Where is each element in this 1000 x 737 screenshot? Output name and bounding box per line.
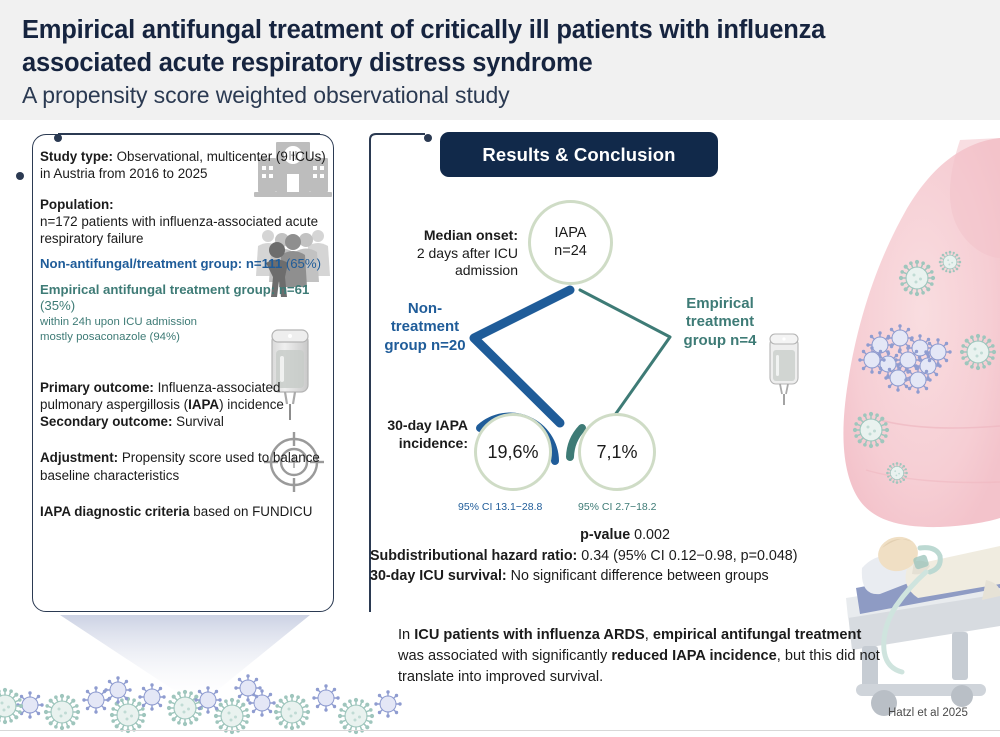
page-subtitle: A propensity score weighted observationa…: [22, 82, 922, 109]
survival-label: 30-day ICU survival:: [370, 568, 507, 584]
virus-band-bottom: [0, 674, 402, 734]
population-block: Population: n=172 patients with influenz…: [40, 196, 330, 345]
p-value-value: 0.002: [630, 527, 670, 543]
statistics-block: p-value 0.002 Subdistributional hazard r…: [370, 525, 880, 587]
p-value-label: p-value: [580, 527, 630, 543]
median-onset-title: Median onset:: [424, 227, 518, 243]
conclusion-part3: was associated with significantly: [398, 648, 611, 664]
hazard-ratio-row: Subdistributional hazard ratio: 0.34 (95…: [370, 546, 880, 567]
incidence-label: 30-day IAPA incidence:: [360, 417, 468, 452]
ci-empirical: 95% CI 2.7−18.2: [578, 501, 657, 513]
population-label: Population:: [40, 197, 114, 212]
group-emp-note2: mostly posaconazole (94%): [40, 330, 330, 345]
pct-value-empirical: 7,1%: [596, 442, 637, 463]
outcomes-block: Primary outcome: Influenza-associated pu…: [40, 379, 330, 431]
criteria-label: IAPA diagnostic criteria: [40, 504, 190, 519]
group-non-label: Non-antifungal/treatment group: n=111: [40, 256, 282, 271]
citation: Hatzl et al 2025: [888, 707, 968, 719]
secondary-outcome-label: Secondary outcome:: [40, 414, 172, 429]
conclusion-part1: In: [398, 627, 414, 643]
study-type-block: Study type: Observational, multicenter (…: [40, 148, 330, 183]
group-emp-note1: within 24h upon ICU admission: [40, 315, 330, 330]
conclusion-bold3: reduced IAPA incidence: [611, 648, 776, 664]
adjustment-label: Adjustment:: [40, 450, 118, 465]
lung-illustration: [843, 138, 1000, 527]
iapa-abbr: IAPA: [188, 397, 219, 412]
primary-outcome-text2: ) incidence: [219, 397, 284, 412]
results-header-pill: Results & Conclusion: [440, 132, 718, 177]
median-onset-text: 2 days after ICU admission: [417, 245, 518, 279]
shadow-triangle: [60, 615, 310, 706]
iapa-node: IAPA n=24: [528, 200, 613, 285]
virus-cluster-lung: [853, 251, 996, 484]
empirical-treatment-group-label: Empirical treatment group n=4: [670, 295, 770, 350]
pct-value-non-treatment: 19,6%: [487, 442, 538, 463]
bottom-divider: [0, 730, 1000, 731]
group-non-antifungal: Non-antifungal/treatment group: n=111 (6…: [40, 256, 330, 273]
study-details-content: Study type: Observational, multicenter (…: [40, 148, 330, 533]
page-title: Empirical antifungal treatment of critic…: [22, 14, 922, 79]
survival-row: 30-day ICU survival: No significant diff…: [370, 566, 880, 587]
conclusion-bold1: ICU patients with influenza ARDS: [414, 627, 645, 643]
iapa-node-line2: n=24: [554, 243, 587, 261]
group-empirical: Empirical antifungal treatment group: n=…: [40, 282, 330, 345]
group-emp-pct: (35%): [40, 298, 75, 313]
conclusion-bold2: empirical antifungal treatment: [653, 627, 861, 643]
primary-outcome-label: Primary outcome:: [40, 380, 154, 395]
iv-bag-icon-diagram: [762, 332, 808, 406]
connector-dot-right: [424, 134, 432, 142]
study-type-label: Study type:: [40, 149, 113, 164]
group-emp-label: Empirical antifungal treatment group: n=…: [40, 282, 309, 297]
ci-non-treatment: 95% CI 13.1−28.8: [458, 501, 542, 513]
survival-value: No significant difference between groups: [507, 568, 769, 584]
secondary-outcome-text: Survival: [172, 414, 223, 429]
shr-value: 0.34 (95% CI 0.12−0.98, p=0.048): [577, 548, 797, 564]
adjustment-block: Adjustment: Propensity score used to bal…: [40, 449, 330, 484]
population-text: n=172 patients with influenza-associated…: [40, 214, 318, 246]
shr-label: Subdistributional hazard ratio:: [370, 548, 577, 564]
incidence-circle-empirical: 7,1%: [578, 413, 656, 491]
connector-dot-side: [16, 172, 24, 180]
conclusion-part2: ,: [645, 627, 653, 643]
infographic-page: Empirical antifungal treatment of critic…: [0, 0, 1000, 737]
p-value-row: p-value 0.002: [370, 525, 880, 546]
conclusion-text: In ICU patients with influenza ARDS, emp…: [398, 625, 880, 688]
incidence-circle-non-treatment: 19,6%: [474, 413, 552, 491]
results-pill-label: Results & Conclusion: [482, 144, 675, 166]
criteria-text: based on FUNDICU: [190, 504, 313, 519]
iapa-node-line1: IAPA: [555, 225, 587, 243]
group-non-pct: (65%): [282, 256, 321, 271]
criteria-block: IAPA diagnostic criteria based on FUNDIC…: [40, 503, 330, 520]
non-treatment-group-label: Non-treatment group n=20: [380, 300, 470, 355]
median-onset-label: Median onset: 2 days after ICU admission: [378, 227, 518, 280]
